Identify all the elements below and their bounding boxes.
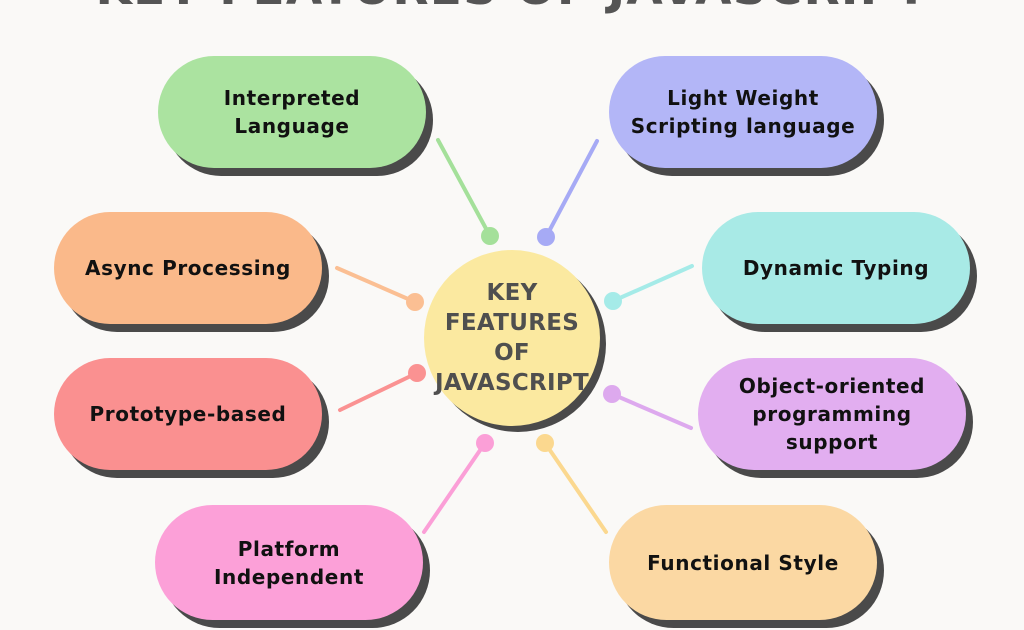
node-label-line-2: programming (739, 400, 925, 428)
node-dynamic-typing[interactable]: Dynamic Typing (702, 212, 970, 324)
center-label-line1: KEY (424, 278, 600, 308)
node-label-line-1: Prototype-based (90, 400, 287, 428)
diagram-canvas: KEY FEATURES OF JAVASCRIPT InterpretedLa… (0, 0, 1024, 630)
connector-dot-dynamic-typing (604, 292, 622, 310)
node-async-processing[interactable]: Async Processing (54, 212, 322, 324)
center-label-line3: JAVASCRIPT (424, 368, 600, 398)
node-label-line-3: support (739, 428, 925, 456)
node-label-line-1: Interpreted (224, 84, 360, 112)
node-light-weight-scripting-language[interactable]: Light WeightScripting language (609, 56, 877, 168)
node-functional-style[interactable]: Functional Style (609, 505, 877, 620)
connector-line-interpreted-language (438, 140, 490, 236)
connector-dot-light-weight-scripting-language (537, 228, 555, 246)
node-object-oriented-programming-support[interactable]: Object-orientedprogrammingsupport (698, 358, 966, 470)
node-platform-independent[interactable]: PlatformIndependent (155, 505, 423, 620)
connector-dot-platform-independent (476, 434, 494, 452)
connector-line-functional-style (545, 443, 606, 532)
connector-dot-async-processing (406, 293, 424, 311)
node-label-line-2: Independent (214, 563, 364, 591)
connector-line-dynamic-typing (613, 266, 692, 301)
node-prototype-based[interactable]: Prototype-based (54, 358, 322, 470)
center-label-line2: FEATURES OF (424, 308, 600, 368)
node-label-line-1: Object-oriented (739, 372, 925, 400)
node-label-line-1: Functional Style (647, 549, 839, 577)
node-label-line-1: Platform (214, 535, 364, 563)
connector-dot-functional-style (536, 434, 554, 452)
connector-line-async-processing (337, 268, 415, 302)
connector-line-prototype-based (340, 373, 417, 410)
connector-line-light-weight-scripting-language (546, 141, 597, 237)
node-label-line-2: Language (224, 112, 360, 140)
node-label-line-1: Async Processing (85, 254, 291, 282)
connector-line-platform-independent (424, 443, 485, 532)
node-label-line-1: Dynamic Typing (743, 254, 929, 282)
node-label-line-2: Scripting language (631, 112, 856, 140)
connector-dot-interpreted-language (481, 227, 499, 245)
center-node[interactable]: KEY FEATURES OF JAVASCRIPT (424, 250, 600, 426)
connector-dot-object-oriented-programming-support (603, 385, 621, 403)
node-label-line-1: Light Weight (631, 84, 856, 112)
node-interpreted-language[interactable]: InterpretedLanguage (158, 56, 426, 168)
connector-line-object-oriented-programming-support (612, 394, 691, 428)
